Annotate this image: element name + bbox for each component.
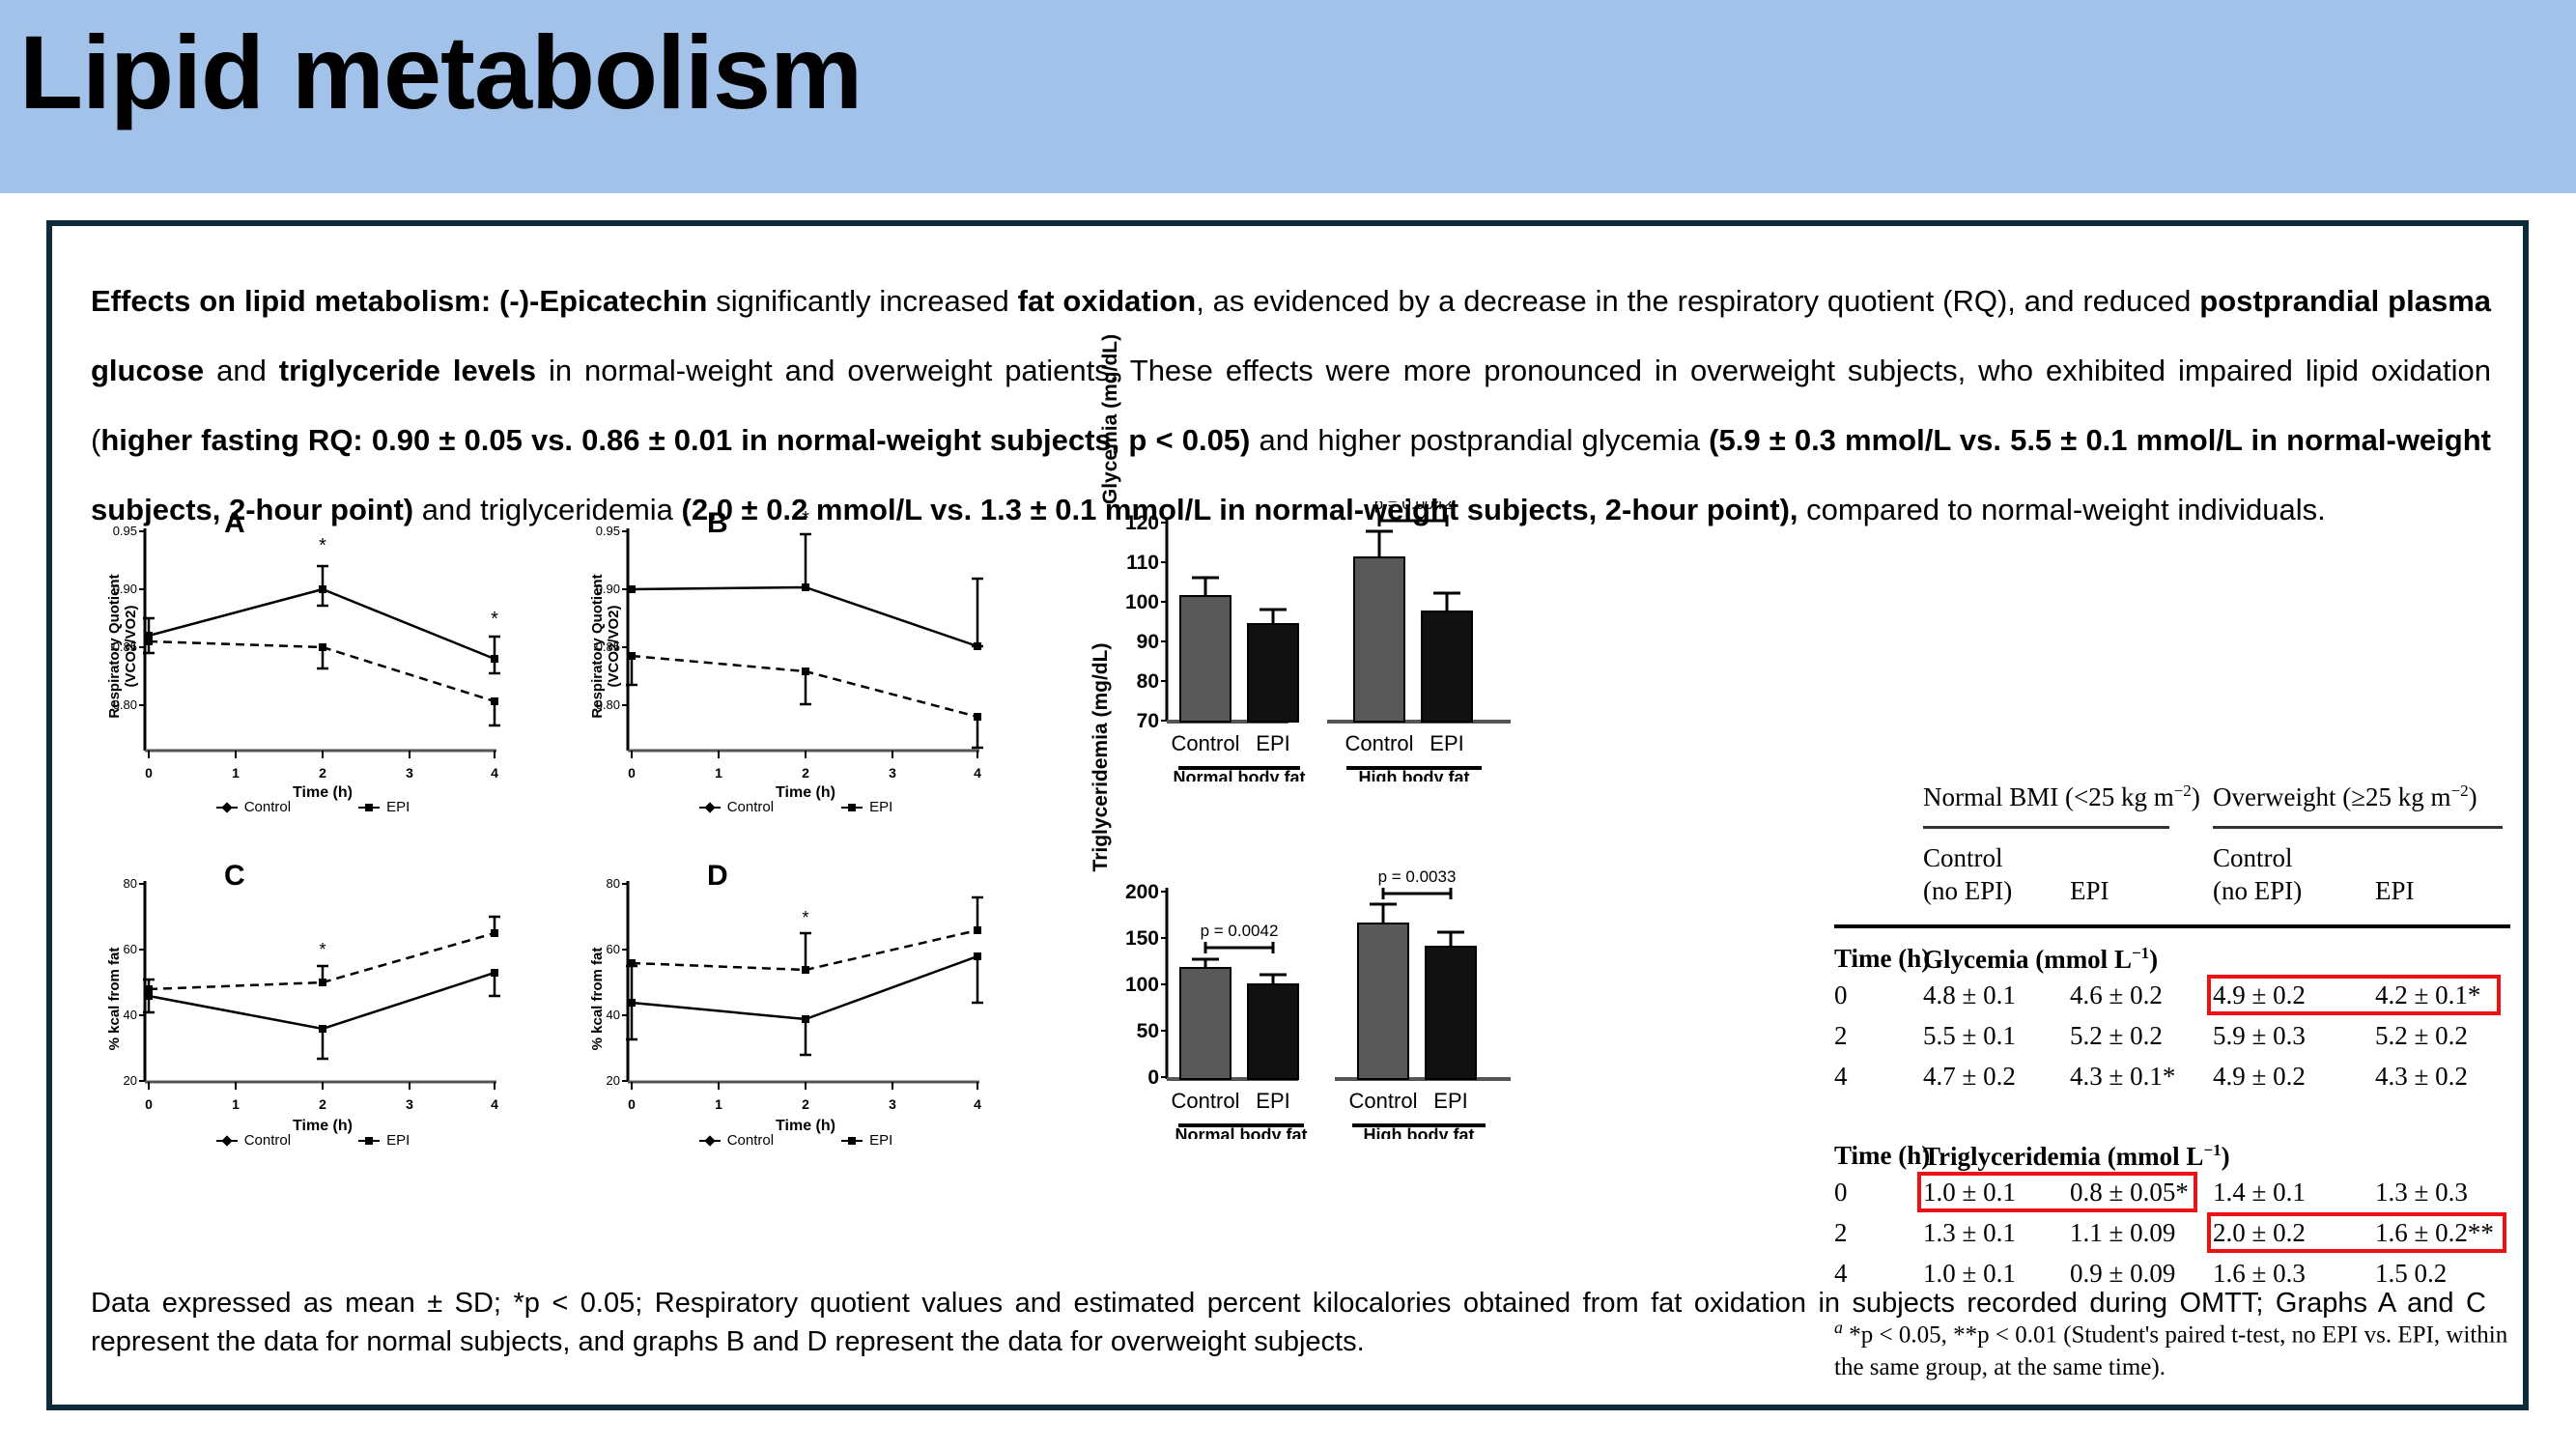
bar-label-control-high: Control [1349,1089,1418,1113]
content-panel: Effects on lipid metabolism: (-)-Epicate… [46,220,2529,1410]
significance-star-b1: * [802,511,809,529]
time-header-glycemia: Time (h) [1834,944,1930,974]
highlight-box-trig-2 [2207,1212,2506,1253]
legend-label-control: Control [727,1132,774,1149]
legend-a: Control EPI [110,799,516,815]
group-label-normal-body-fat: Normal body fat [1173,768,1305,781]
y-axis-label-d: % kcal from fat [589,926,606,1071]
pvalue-trig-high: p = 0.0033 [1378,867,1457,886]
bar-chart-glycemia: Glycemia (mg/dL) 120110 10090 8070 [1105,501,1588,839]
svg-text:2: 2 [319,1096,326,1112]
svg-text:100: 100 [1125,974,1159,996]
table-top-rule [1834,924,2510,928]
paragraph-segment-8: higher fasting RQ: 0.90 ± 0.05 vs. 0.86 … [100,423,1250,457]
bar-label-epi-normal: EPI [1256,731,1289,755]
svg-text:1: 1 [715,1096,722,1112]
svg-text:0: 0 [628,765,636,781]
paragraph-segment-3: , as evidenced by a decrease in the resp… [1196,284,2199,318]
legend-label-control: Control [244,799,291,815]
panel-label-c: C [224,860,245,893]
legend-marker-epi-icon [358,807,380,809]
svg-text:1: 1 [232,765,240,781]
group-label-high-body-fat: High body fat [1359,768,1470,781]
legend-b: Control EPI [593,799,999,815]
line-chart-c: C % kcal from fat 8060 4020 [110,864,612,1202]
svg-text:3: 3 [889,1096,896,1112]
svg-text:80: 80 [1137,670,1159,693]
svg-text:0: 0 [145,765,153,781]
svg-text:3: 3 [406,1096,413,1112]
svg-text:4: 4 [974,1096,981,1112]
legend-c: Control EPI [110,1132,516,1149]
figure-group: A Respiratory Quotient (VCO2/VO2) 0.95 0… [52,501,2523,1274]
svg-text:0: 0 [145,1096,153,1112]
svg-text:1: 1 [232,1096,240,1112]
panel-label-d: D [707,860,728,893]
group-label-normal-body-fat: Normal body fat [1175,1125,1307,1139]
legend-item-epi: EPI [841,799,892,815]
y-axis-label-triglyceridemia: Triglyceridemia (mg/dL) [1090,617,1113,897]
figure-caption: Data expressed as mean ± SD; *p < 0.05; … [91,1284,2486,1361]
svg-text:0: 0 [1147,1066,1159,1089]
legend-item-epi: EPI [358,1132,410,1149]
column-group-overweight: Overweight (≥25 kg m−2) [2213,781,2477,812]
significance-star-a2: * [491,609,498,630]
column-group-normal-bmi: Normal BMI (<25 kg m−2) [1923,781,2200,812]
paragraph-segment-5: and [204,354,279,387]
y-axis-label-c: % kcal from fat [106,926,123,1071]
bar-label-epi-normal: EPI [1256,1089,1289,1113]
subheader-epi-normal: EPI [2070,874,2109,907]
bar-label-epi-high: EPI [1433,1089,1467,1113]
paragraph-segment-9: and higher postprandial glycemia [1250,423,1709,457]
section-title-triglyceridemia: Triglyceridemia (mmol L−1) [1923,1141,2230,1172]
legend-marker-epi-icon [841,807,863,809]
y-axis-label-b: Respiratory Quotient (VCO2/VO2) [589,554,622,738]
results-table: Normal BMI (<25 kg m−2) Overweight (≥25 … [1834,781,2510,946]
paragraph-segment-1: significantly increased [707,284,1017,318]
legend-marker-control-icon [699,1140,721,1142]
plot-area-a: 0.95 0.90 0.85 0.80 012 [110,511,564,801]
significance-star-d1: * [802,908,808,927]
legend-item-control: Control [216,799,291,815]
svg-text:80: 80 [124,876,137,891]
legend-marker-epi-icon [841,1140,863,1142]
legend-label-epi: EPI [869,1132,892,1149]
highlight-box-glycemia-0 [2207,975,2501,1015]
ytick-a-0: 0.95 [113,524,137,538]
legend-item-epi: EPI [841,1132,892,1149]
legend-item-control: Control [699,799,774,815]
bar-chart-triglyceridemia: Triglyceridemia (mg/dL) 200150 10050 0 [1105,859,1588,1197]
slide-header: Lipid metabolism [0,0,2576,193]
legend-item-epi: EPI [358,799,410,815]
legend-label-control: Control [727,799,774,815]
svg-text:40: 40 [124,1008,137,1022]
subheader-control-normal: Control(no EPI) [1923,841,2012,907]
svg-text:60: 60 [607,942,620,956]
svg-text:3: 3 [406,765,413,781]
svg-text:120: 120 [1125,512,1159,534]
svg-text:150: 150 [1125,927,1159,950]
plot-area-c: 8060 4020 012 34 Time (h) [110,864,564,1153]
svg-text:3: 3 [889,765,896,781]
svg-text:100: 100 [1125,591,1159,613]
legend-label-epi: EPI [869,799,892,815]
pvalue-glycemia-high: p = 0.0042 [1374,501,1453,513]
bar-label-control-normal: Control [1172,1089,1240,1113]
svg-text:4: 4 [974,765,981,781]
svg-text:2: 2 [802,765,809,781]
svg-text:60: 60 [124,942,137,956]
significance-star-c1: * [319,940,326,959]
svg-text:110: 110 [1126,552,1159,574]
significance-star-a1: * [319,535,326,556]
svg-text:20: 20 [124,1073,137,1088]
svg-text:4: 4 [491,1096,498,1112]
svg-text:70: 70 [1137,710,1159,732]
legend-item-control: Control [699,1132,774,1149]
svg-text:90: 90 [1137,631,1159,653]
svg-text:4: 4 [491,765,498,781]
panel-label-b: B [707,507,728,540]
svg-text:0: 0 [628,1096,636,1112]
plot-area-d: 8060 4020 012 34 Time (h) [593,864,1047,1153]
time-header-triglyceridemia: Time (h) [1834,1141,1930,1171]
svg-text:40: 40 [607,1008,620,1022]
paragraph-segment-6: triglyceride levels [279,354,536,387]
line-chart-d: D % kcal from fat 8060 4020 [593,864,1095,1202]
legend-label-control: Control [244,1132,291,1149]
page-title: Lipid metabolism [19,17,862,127]
legend-marker-control-icon [216,1140,238,1142]
table-header: Normal BMI (<25 kg m−2) Overweight (≥25 … [1834,781,2510,946]
panel-label-a: A [224,507,245,540]
legend-label-epi: EPI [386,799,410,815]
group-label-high-body-fat: High body fat [1364,1125,1475,1139]
header-rule-right [2213,826,2503,829]
legend-label-epi: EPI [386,1132,410,1149]
subheader-control-overweight: Control(no EPI) [2213,841,2302,907]
svg-text:2: 2 [802,1096,809,1112]
section-title-glycemia: Glycemia (mmol L−1) [1923,944,2158,975]
plot-area-triglyceridemia: 200150 10050 0 [1105,859,1559,1139]
svg-text:0.95: 0.95 [596,524,620,538]
svg-text:50: 50 [1137,1020,1159,1042]
y-axis-label-glycemia: Glycemia (mg/dL) [1099,298,1122,540]
legend-d: Control EPI [593,1132,999,1149]
pvalue-trig-normal: p = 0.0042 [1201,922,1279,940]
svg-text:20: 20 [607,1073,620,1088]
svg-text:2: 2 [319,765,326,781]
bar-label-epi-high: EPI [1430,731,1463,755]
line-chart-a: A Respiratory Quotient (VCO2/VO2) 0.95 0… [110,511,612,849]
y-axis-label-a: Respiratory Quotient (VCO2/VO2) [106,554,139,738]
svg-text:1: 1 [715,765,722,781]
header-rule-left [1923,826,2169,829]
legend-marker-epi-icon [358,1140,380,1142]
legend-item-control: Control [216,1132,291,1149]
paragraph-segment-0: Effects on lipid metabolism: (-)-Epicate… [91,284,707,318]
subheader-epi-overweight: EPI [2375,874,2415,907]
svg-text:80: 80 [607,876,620,891]
plot-area-glycemia: 120110 10090 8070 [1105,501,1559,781]
line-chart-b: B Respiratory Quotient (VCO2/VO2) 0.950.… [593,511,1095,849]
legend-marker-control-icon [216,807,238,809]
svg-text:200: 200 [1125,881,1159,903]
highlight-box-trig-0 [1917,1172,2197,1212]
legend-marker-control-icon [699,807,721,809]
bar-label-control-high: Control [1345,731,1414,755]
bar-label-control-normal: Control [1172,731,1240,755]
plot-area-b: 0.950.90 0.850.80 012 34 Time (h) [593,511,1047,801]
